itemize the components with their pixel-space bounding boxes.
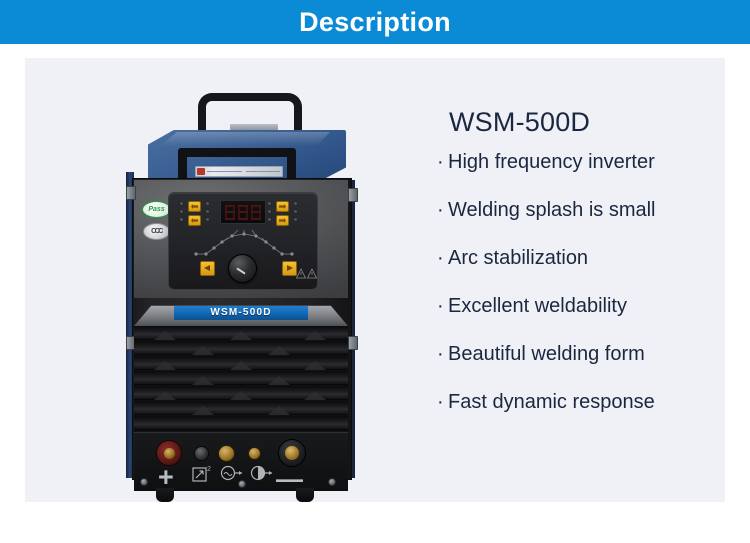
param-up-left-button[interactable]: [188, 201, 201, 212]
param-up-right-button[interactable]: [276, 201, 289, 212]
machine-foot: [156, 488, 174, 502]
gas-outlet-icon: [250, 464, 276, 482]
feature-label: Excellent weldability: [448, 296, 627, 316]
content-panel: Pass CCC: [25, 58, 725, 502]
svg-text:2: 2: [207, 466, 211, 473]
product-image: Pass CCC: [120, 68, 380, 498]
feature-item: · Welding splash is small: [437, 200, 725, 220]
led-digit: [238, 205, 248, 220]
vent-rib: [192, 346, 214, 355]
lid-sheen: [160, 132, 330, 146]
feature-item: · High frequency inverter: [437, 152, 725, 172]
feature-label: Arc stabilization: [448, 248, 588, 268]
wire-feed-icon: 2: [192, 464, 214, 484]
pass-sticker-label: Pass: [148, 206, 164, 213]
vent-rib: [268, 406, 290, 415]
indicator-led: [206, 202, 209, 205]
product-title: WSM-500D: [449, 108, 725, 138]
model-badge-label: WSM-500D: [210, 308, 271, 318]
vent-rib: [154, 391, 176, 400]
vent-rib: [304, 331, 326, 340]
rear-handle-plate: [230, 124, 278, 130]
gas-outlet-connector[interactable]: [248, 447, 261, 460]
positive-terminal-symbol: +: [158, 464, 174, 491]
indicator-led: [180, 210, 183, 213]
panel-screw: [328, 478, 336, 486]
param-down-right-button[interactable]: [276, 215, 289, 226]
bullet-marker-icon: ·: [437, 296, 448, 316]
bullet-marker-icon: ·: [437, 248, 448, 268]
indicator-led: [180, 202, 183, 205]
current-adjust-knob[interactable]: [228, 254, 257, 283]
panel-screw: [238, 480, 246, 488]
negative-output-terminal[interactable]: [278, 439, 306, 467]
indicator-led: [294, 202, 297, 205]
bullet-marker-icon: ·: [437, 152, 448, 172]
led-digit: [225, 205, 235, 220]
right-mount-bracket: [348, 336, 358, 350]
indicator-led: [294, 210, 297, 213]
model-badge: WSM-500D: [174, 306, 308, 320]
vent-rib: [268, 346, 290, 355]
feature-item: · Fast dynamic response: [437, 392, 725, 412]
vent-rib: [304, 361, 326, 370]
page-title: Description: [299, 9, 451, 36]
indicator-led: [180, 218, 183, 221]
vent-louver: [134, 341, 348, 355]
feature-label: High frequency inverter: [448, 152, 655, 172]
ccc-sticker-label: CCC: [151, 228, 162, 235]
indicator-led: [206, 218, 209, 221]
feature-item: · Arc stabilization: [437, 248, 725, 268]
feature-label: Beautiful welding form: [448, 344, 645, 364]
pass-sticker-icon: Pass: [142, 201, 171, 218]
vent-rib: [230, 361, 252, 370]
vent-rib: [154, 361, 176, 370]
feature-item: · Excellent weldability: [437, 296, 725, 316]
warning-triangle-icon: [296, 268, 318, 280]
vent-rib: [192, 406, 214, 415]
feature-label: Welding splash is small: [448, 200, 656, 220]
vent-rib: [230, 331, 252, 340]
led-display: [220, 200, 266, 224]
feature-label: Fast dynamic response: [448, 392, 655, 412]
product-specs: WSM-500D · High frequency inverter · Wel…: [425, 108, 725, 412]
feature-list: · High frequency inverter · Welding spla…: [425, 152, 725, 412]
vent-rib: [192, 376, 214, 385]
right-mount-bracket: [348, 188, 358, 202]
param-down-left-button[interactable]: [188, 215, 201, 226]
bullet-marker-icon: ·: [437, 392, 448, 412]
mode-left-arrow-button[interactable]: [200, 261, 215, 276]
vent-louver: [134, 401, 348, 415]
product-description-page: Description: [0, 0, 750, 543]
left-mount-bracket: [126, 186, 136, 200]
control-cable-socket[interactable]: [194, 446, 209, 461]
ventilation-grille: [134, 326, 348, 432]
bullet-marker-icon: ·: [437, 200, 448, 220]
vent-rib: [230, 391, 252, 400]
panel-screw: [140, 478, 148, 486]
indicator-led: [294, 218, 297, 221]
indicator-led: [268, 218, 271, 221]
vent-rib: [268, 376, 290, 385]
vent-louver: [134, 371, 348, 385]
indicator-led: [268, 210, 271, 213]
gas-inlet-connector[interactable]: [218, 445, 235, 462]
ccc-sticker-icon: CCC: [143, 223, 170, 240]
machine-foot: [296, 488, 314, 502]
led-digit: [251, 205, 261, 220]
indicator-led: [206, 210, 209, 213]
mode-right-arrow-button[interactable]: [282, 261, 297, 276]
vent-louver: [134, 416, 348, 430]
indicator-led: [268, 202, 271, 205]
vent-rib: [304, 391, 326, 400]
vent-rib: [154, 331, 176, 340]
bullet-marker-icon: ·: [437, 344, 448, 364]
section-header-bar: Description: [0, 0, 750, 44]
feature-item: · Beautiful welding form: [437, 344, 725, 364]
